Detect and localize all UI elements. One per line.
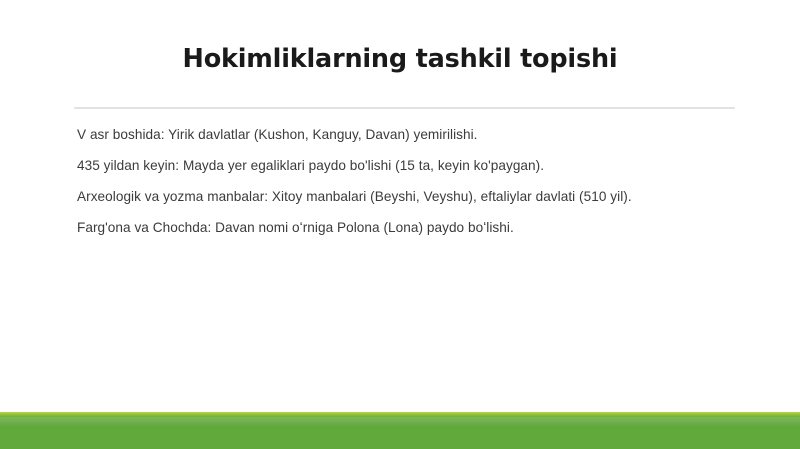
presentation-slide: Hokimliklarning tashkil topishi V asr bo… xyxy=(0,0,800,449)
body-line: Farg'ona va Chochda: Davan nomi oʻrniga … xyxy=(77,212,757,243)
body-line: Arxeologik va yozma manbalar: Xitoy manb… xyxy=(77,181,757,212)
slide-body: V asr boshida: Yirik davlatlar (Kushon, … xyxy=(77,119,757,243)
footer-gloss-overlay xyxy=(0,417,800,426)
body-line: 435 yildan keyin: Mayda yer egaliklari p… xyxy=(77,150,757,181)
page-title: Hokimliklarning tashkil topishi xyxy=(0,44,800,74)
title-divider xyxy=(74,107,735,109)
footer-accent-band xyxy=(0,412,800,449)
body-line: V asr boshida: Yirik davlatlar (Kushon, … xyxy=(77,119,757,150)
